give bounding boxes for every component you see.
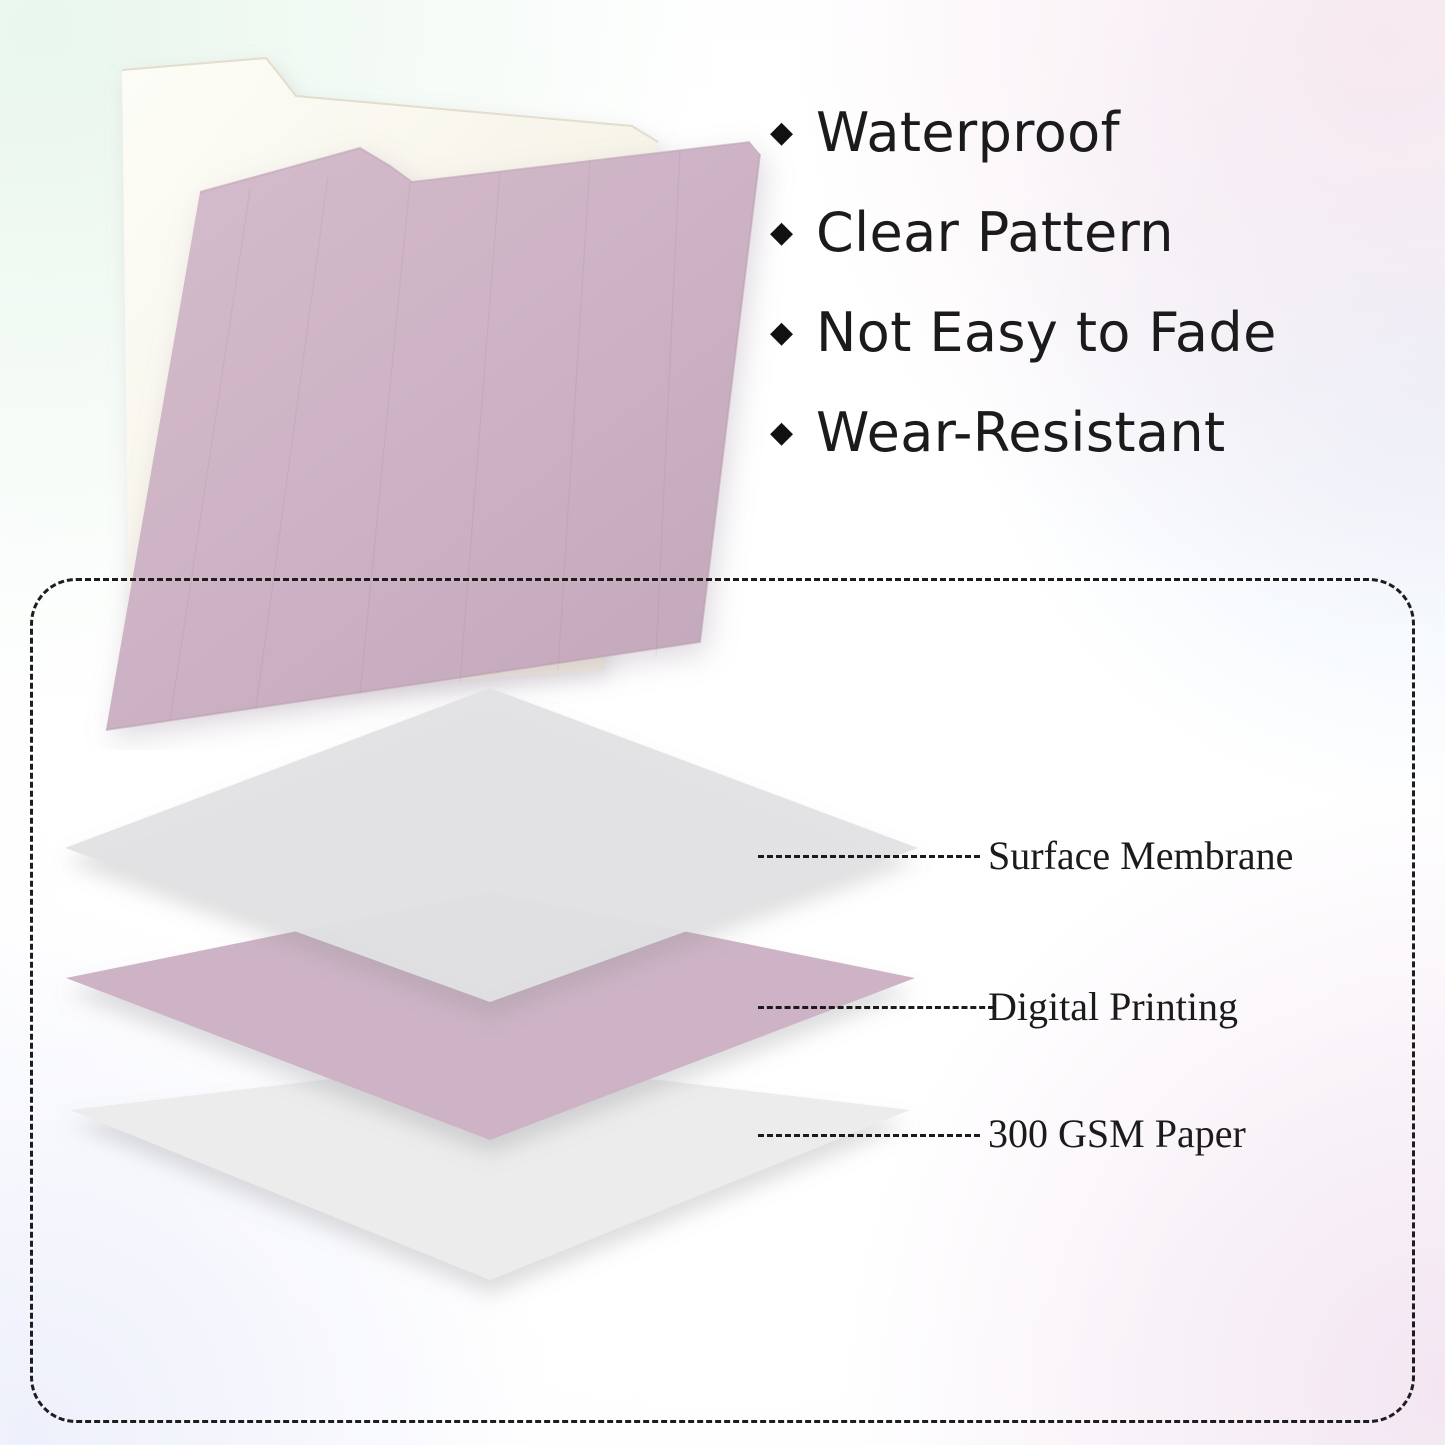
feature-label: Clear Pattern bbox=[816, 201, 1174, 264]
exploded-layer-diagram bbox=[30, 640, 960, 1320]
layer-label-digital-printing: Digital Printing bbox=[988, 983, 1238, 1030]
feature-item-waterproof: ◆ Waterproof bbox=[770, 82, 1410, 182]
feature-item-clear-pattern: ◆ Clear Pattern bbox=[770, 182, 1410, 282]
leader-line-300-gsm-paper bbox=[758, 1134, 980, 1137]
feature-label: Not Easy to Fade bbox=[816, 301, 1277, 364]
diamond-bullet-icon: ◆ bbox=[770, 318, 800, 348]
feature-item-wear-resistant: ◆ Wear-Resistant bbox=[770, 382, 1410, 482]
leader-line-digital-printing bbox=[758, 1006, 994, 1009]
feature-item-not-easy-to-fade: ◆ Not Easy to Fade bbox=[770, 282, 1410, 382]
leader-line-surface-membrane bbox=[758, 855, 980, 858]
diamond-bullet-icon: ◆ bbox=[770, 418, 800, 448]
feature-label: Waterproof bbox=[816, 101, 1120, 164]
layer-label-surface-membrane: Surface Membrane bbox=[988, 832, 1293, 879]
diamond-bullet-icon: ◆ bbox=[770, 218, 800, 248]
feature-label: Wear-Resistant bbox=[816, 401, 1226, 464]
feature-list: ◆ Waterproof ◆ Clear Pattern ◆ Not Easy … bbox=[770, 82, 1410, 482]
product-infographic: ◆ Waterproof ◆ Clear Pattern ◆ Not Easy … bbox=[0, 0, 1445, 1445]
diamond-bullet-icon: ◆ bbox=[770, 118, 800, 148]
layer-label-300-gsm-paper: 300 GSM Paper bbox=[988, 1110, 1246, 1157]
